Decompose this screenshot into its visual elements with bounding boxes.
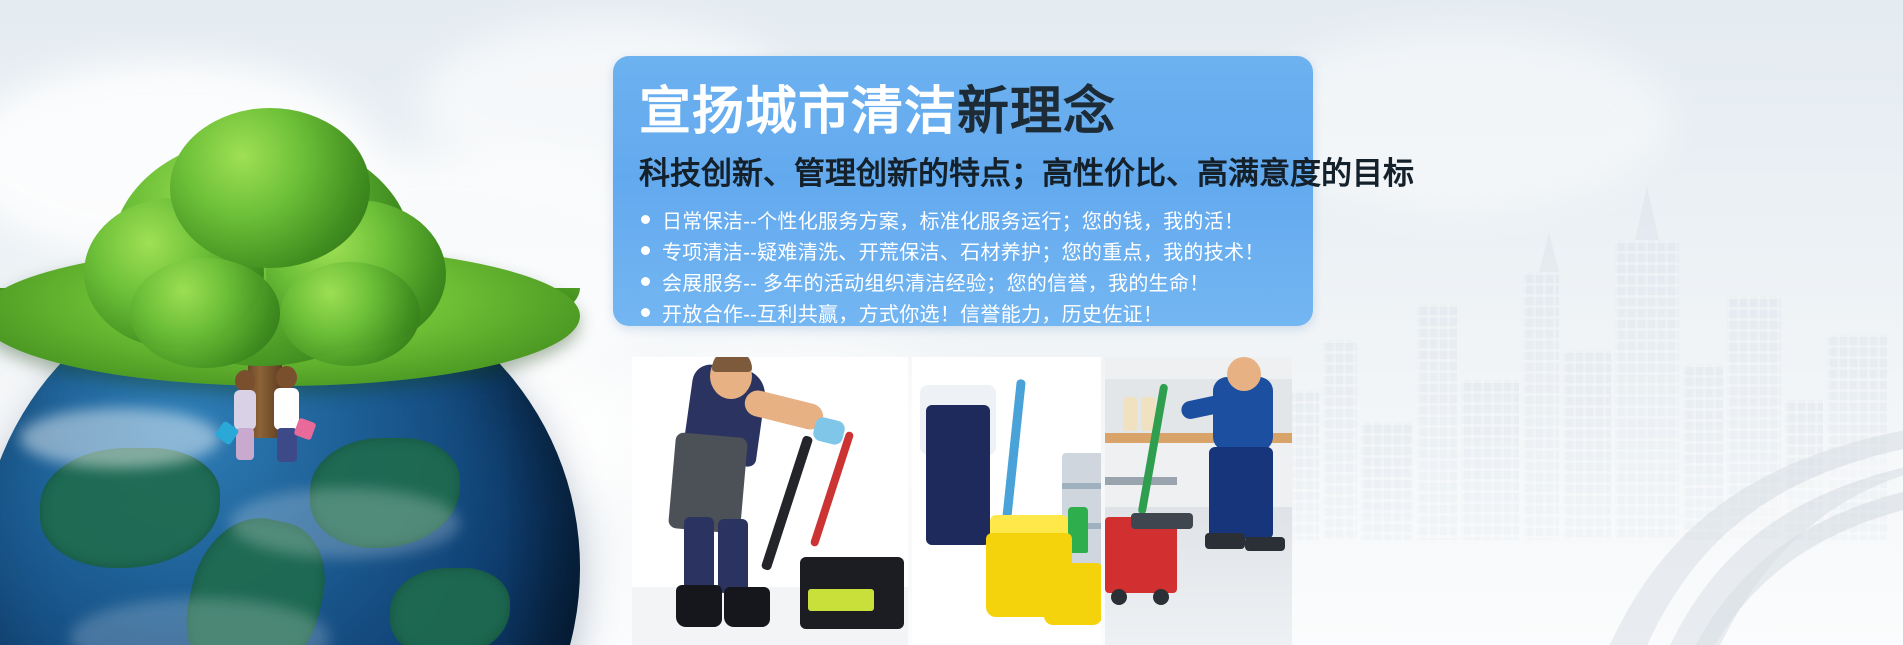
list-item-label: 会展服务-- 多年的活动组织清洁经验；您的信誉，我的生命！ <box>662 267 1210 296</box>
child-right-body <box>274 388 299 430</box>
child-right-head <box>276 366 297 389</box>
curved-road-illustration <box>1233 385 1903 645</box>
tree-canopy <box>130 258 280 368</box>
title-rest: 新理念 <box>957 83 1116 141</box>
cleaning-service-banner: 宣扬城市清洁新理念 科技创新、管理创新的特点；高性价比、高满意度的目标 日常保洁… <box>0 0 1903 645</box>
child-left-head <box>235 370 255 392</box>
title-highlight: 宣扬城市清洁 <box>639 83 957 141</box>
list-item: 开放合作--互利共赢，方式你选！信誉能力，历史佐证！ <box>641 297 1265 328</box>
child-left-legs <box>236 428 254 460</box>
bullet-dot-icon <box>641 246 650 255</box>
list-item-label: 开放合作--互利共赢，方式你选！信誉能力，历史佐证！ <box>662 298 1163 327</box>
bullet-dot-icon <box>641 308 650 317</box>
tree-canopy <box>280 262 420 366</box>
earth-globe-illustration <box>0 188 600 645</box>
list-item: 日常保洁--个性化服务方案，标准化服务运行；您的钱，我的活！ <box>641 204 1265 235</box>
list-item-label: 日常保洁--个性化服务方案，标准化服务运行；您的钱，我的活！ <box>662 205 1244 234</box>
message-panel: 宣扬城市清洁新理念 科技创新、管理创新的特点；高性价比、高满意度的目标 日常保洁… <box>613 56 1313 326</box>
tree-canopy <box>170 108 370 268</box>
page-subtitle: 科技创新、管理创新的特点；高性价比、高满意度的目标 <box>639 154 1414 194</box>
bullet-dot-icon <box>641 277 650 286</box>
photo-kitchen-mopping-worker <box>1105 357 1292 645</box>
page-title: 宣扬城市清洁新理念 <box>639 82 1116 142</box>
photo-mop-buckets-trolley <box>912 357 1101 645</box>
photo-floor-scrubber-worker <box>632 357 908 645</box>
list-item: 会展服务-- 多年的活动组织清洁经验；您的信誉，我的生命！ <box>641 266 1265 297</box>
photo-strip <box>632 357 1292 645</box>
list-item: 专项清洁--疑难清洗、开荒保洁、石材养护；您的重点，我的技术！ <box>641 235 1265 266</box>
child-left-body <box>234 390 256 430</box>
service-bullet-list: 日常保洁--个性化服务方案，标准化服务运行；您的钱，我的活！ 专项清洁--疑难清… <box>641 204 1265 328</box>
list-item-label: 专项清洁--疑难清洗、开荒保洁、石材养护；您的重点，我的技术！ <box>662 236 1265 265</box>
bullet-dot-icon <box>641 215 650 224</box>
